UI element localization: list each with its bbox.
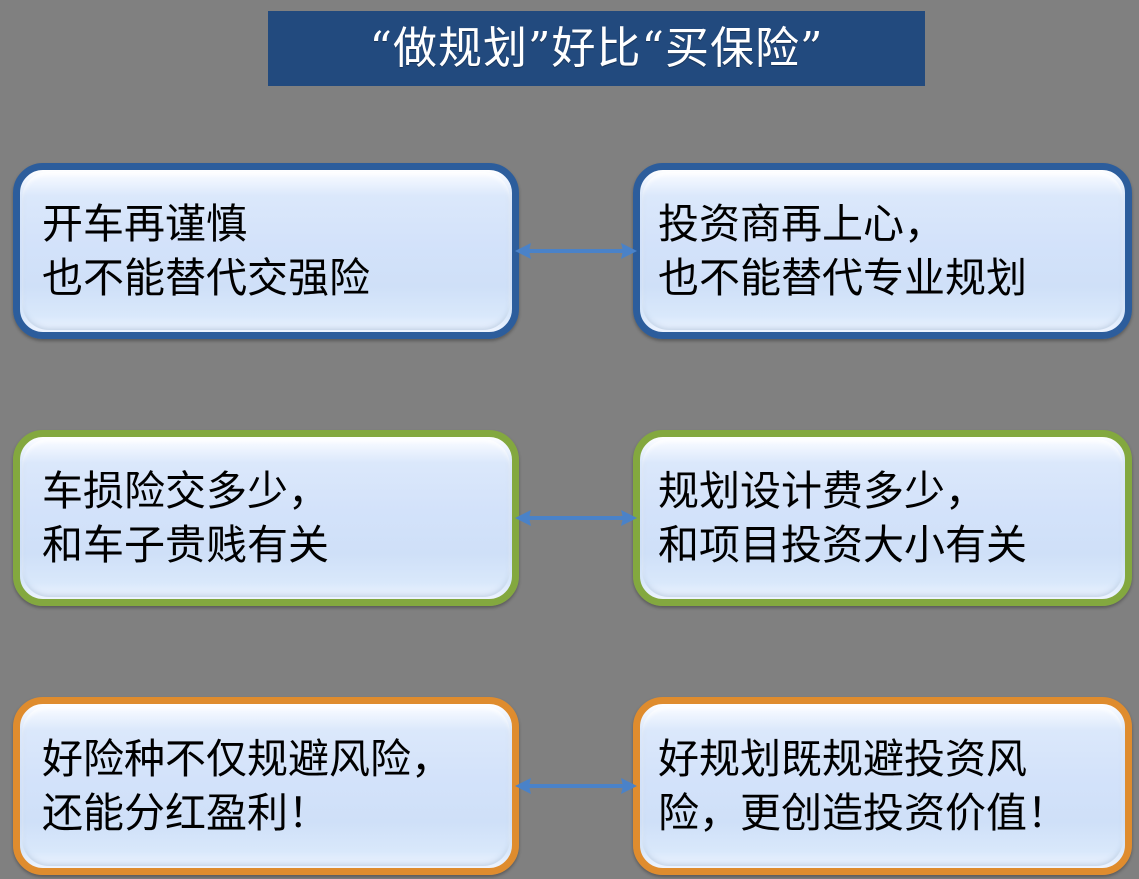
callout-box-row1-left[interactable]: 开车再谨慎 也不能替代交强险 [13, 163, 519, 339]
callout-box-row3-left[interactable]: 好险种不仅规避风险， 还能分红盈利！ [13, 697, 519, 875]
callout-box-row2-right[interactable]: 规划设计费多少， 和项目投资大小有关 [633, 430, 1132, 606]
callout-text: 好险种不仅规避风险， 还能分红盈利！ [42, 732, 508, 840]
connector-row1 [515, 236, 637, 266]
callout-box-row1-right[interactable]: 投资商再上心， 也不能替代专业规划 [633, 163, 1132, 339]
double-arrow-icon [515, 778, 637, 794]
callout-box-row2-left[interactable]: 车损险交多少， 和车子贵贱有关 [13, 430, 519, 606]
double-arrow-icon [515, 243, 637, 259]
connector-row3 [515, 771, 637, 801]
callout-text: 好规划既规避投资风 险，更创造投资价值！ [658, 732, 1121, 840]
connector-row2 [515, 503, 637, 533]
callout-text: 规划设计费多少， 和项目投资大小有关 [658, 464, 1121, 572]
callout-text: 车损险交多少， 和车子贵贱有关 [42, 464, 508, 572]
page-title: “做规划”好比“买保险” [370, 27, 824, 71]
callout-text: 开车再谨慎 也不能替代交强险 [42, 197, 508, 305]
slide-title-banner: “做规划”好比“买保险” [268, 11, 925, 86]
callout-box-row3-right[interactable]: 好规划既规避投资风 险，更创造投资价值！ [633, 697, 1132, 875]
callout-text: 投资商再上心， 也不能替代专业规划 [658, 197, 1121, 305]
double-arrow-icon [515, 510, 637, 526]
